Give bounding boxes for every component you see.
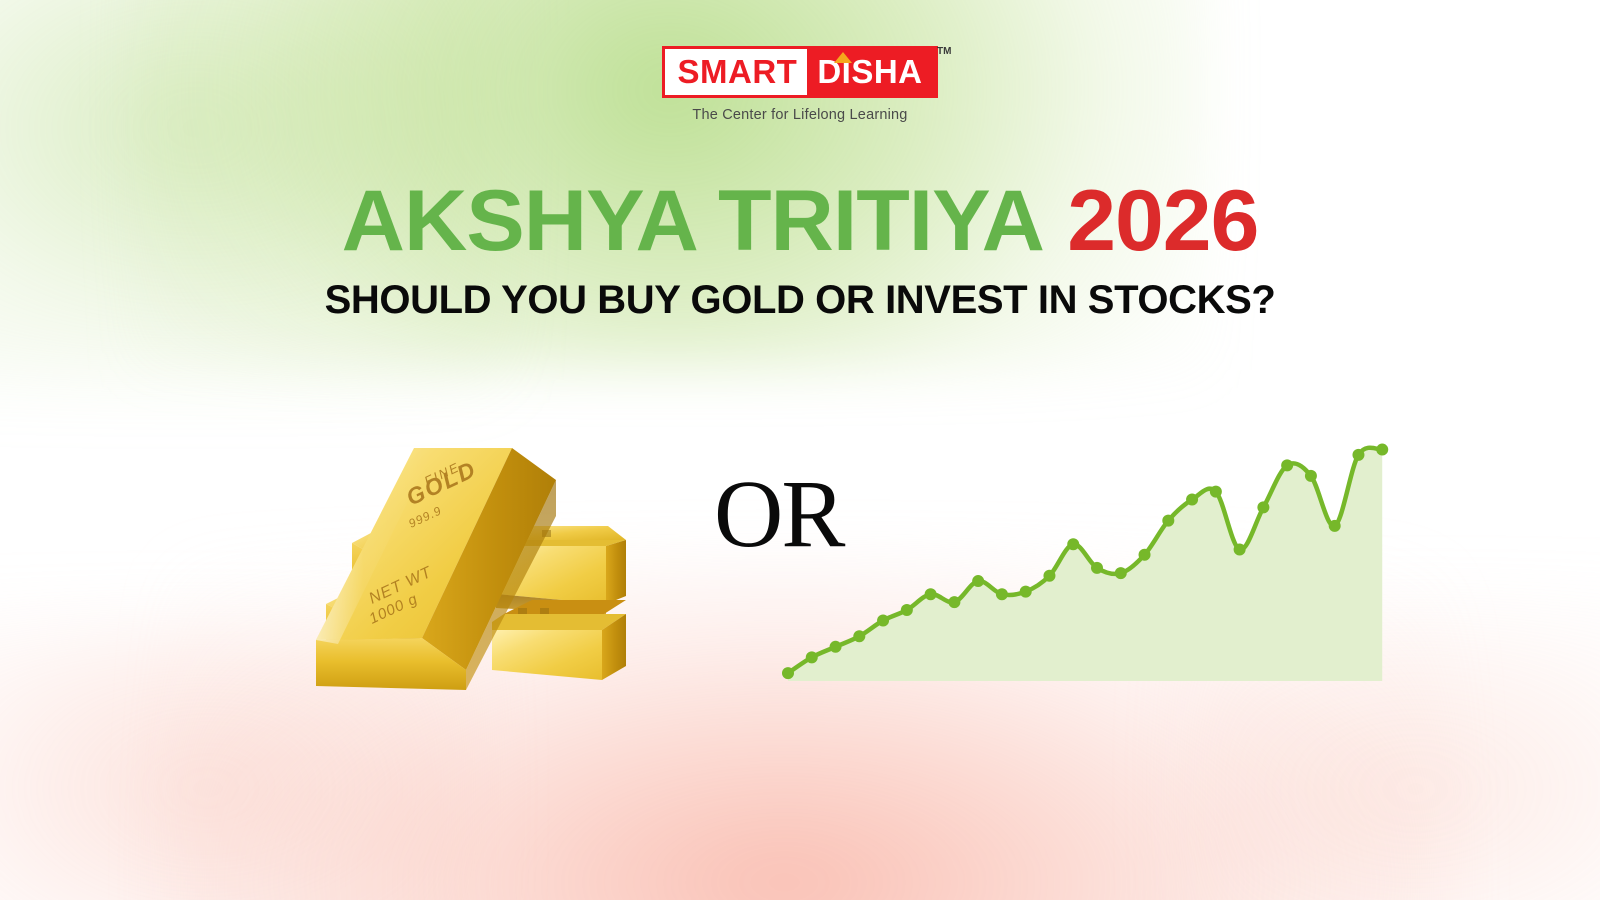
chart-data-point bbox=[830, 641, 842, 653]
poster-canvas: SMART DISHA TM The Center for Lifelong L… bbox=[0, 0, 1600, 900]
chart-data-point bbox=[877, 615, 889, 627]
gold-bars-illustration: FINE GOLD 999.9 NET WT 1000 g bbox=[296, 418, 626, 703]
chart-data-point bbox=[1139, 549, 1151, 561]
chart-data-point bbox=[1067, 538, 1079, 550]
chart-data-point bbox=[1376, 444, 1388, 456]
chart-data-point bbox=[1020, 586, 1032, 598]
gold-bar-right-lower bbox=[492, 600, 626, 680]
chart-data-point bbox=[1352, 449, 1364, 461]
chart-area-fill bbox=[788, 448, 1382, 681]
triangle-accent-icon bbox=[834, 52, 852, 63]
chart-data-point bbox=[948, 596, 960, 608]
brand-tagline: The Center for Lifelong Learning bbox=[692, 107, 907, 123]
chart-data-point bbox=[1305, 470, 1317, 482]
chart-data-point bbox=[806, 651, 818, 663]
chart-data-point bbox=[1257, 501, 1269, 513]
chart-data-point bbox=[996, 588, 1008, 600]
chart-data-point bbox=[1186, 494, 1198, 506]
chart-data-point bbox=[853, 630, 865, 642]
chart-data-point bbox=[925, 588, 937, 600]
chart-data-point bbox=[782, 667, 794, 679]
trademark-icon: TM bbox=[937, 46, 951, 57]
chart-data-point bbox=[1162, 515, 1174, 527]
chart-data-point bbox=[972, 575, 984, 587]
page-title: AKSHYA TRITIYA 2026 bbox=[0, 178, 1600, 266]
chart-data-point bbox=[1210, 486, 1222, 498]
logo-mark[interactable]: SMART DISHA TM bbox=[662, 46, 937, 98]
chart-data-point bbox=[1234, 544, 1246, 556]
headline-block: AKSHYA TRITIYA 2026 SHOULD YOU BUY GOLD … bbox=[0, 178, 1600, 323]
chart-data-point bbox=[1043, 570, 1055, 582]
chart-data-point bbox=[901, 604, 913, 616]
logo-word-disha-text: DISHA bbox=[817, 53, 922, 90]
chart-data-point bbox=[1091, 562, 1103, 574]
chart-data-point bbox=[1115, 567, 1127, 579]
stock-growth-chart bbox=[770, 400, 1430, 700]
chart-data-point bbox=[1281, 459, 1293, 471]
brand-logo[interactable]: SMART DISHA TM The Center for Lifelong L… bbox=[0, 46, 1600, 123]
page-subtitle: SHOULD YOU BUY GOLD OR INVEST IN STOCKS? bbox=[0, 278, 1600, 323]
title-festival: AKSHYA TRITIYA bbox=[342, 173, 1044, 269]
title-year: 2026 bbox=[1067, 173, 1258, 269]
chart-data-point bbox=[1329, 520, 1341, 532]
logo-word-smart: SMART bbox=[665, 49, 807, 95]
logo-word-disha: DISHA bbox=[807, 49, 934, 95]
